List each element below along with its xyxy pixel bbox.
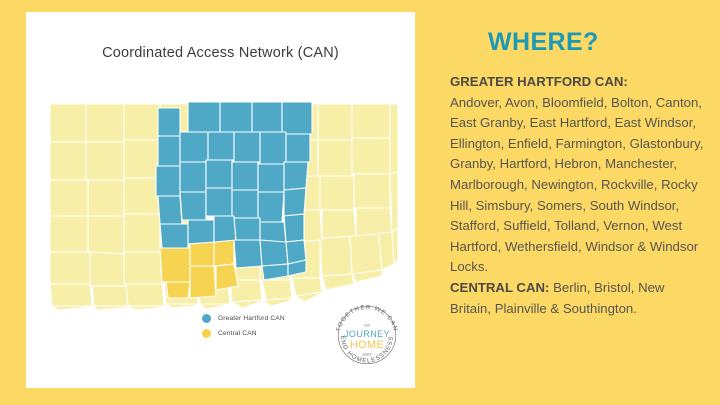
can-body: GREATER HARTFORD CAN: Andover, Avon, Blo…	[450, 72, 706, 319]
logo-word-home: HOME	[350, 339, 384, 351]
greater-hartford-label: GREATER HARTFORD CAN:	[450, 74, 628, 89]
central-paragraph: CENTRAL CAN: Berlin, Bristol, New Britai…	[450, 278, 706, 319]
legend-swatch-blue-icon	[202, 314, 211, 323]
legend-label-central: Central CAN	[218, 330, 257, 337]
slide-root: Coordinated Access Network (CAN)	[0, 0, 720, 405]
map-title: Coordinated Access Network (CAN)	[26, 45, 415, 61]
logo-word-journey: JOURNEY	[344, 329, 390, 339]
logo-est-label: est	[364, 322, 371, 327]
legend-label-greater-hartford: Greater Hartford CAN	[218, 315, 285, 322]
journey-home-logo: TOGETHER WE CAN END HOMELESSNESS est JOU…	[331, 299, 403, 371]
logo-est-year: 2007	[362, 352, 372, 357]
central-label: CENTRAL CAN:	[450, 280, 549, 295]
svg-text:TOGETHER WE CAN: TOGETHER WE CAN	[336, 305, 398, 332]
content-panel: WHERE? GREATER HARTFORD CAN: Andover, Av…	[450, 0, 706, 405]
map-legend: Greater Hartford CAN Central CAN	[202, 314, 342, 344]
greater-hartford-paragraph: GREATER HARTFORD CAN: Andover, Avon, Blo…	[450, 72, 706, 278]
legend-swatch-gold-icon	[202, 329, 211, 338]
legend-item-central: Central CAN	[202, 329, 342, 338]
map-card: Coordinated Access Network (CAN)	[26, 12, 415, 388]
legend-item-greater-hartford: Greater Hartford CAN	[202, 314, 342, 323]
connecticut-town-map	[38, 84, 404, 314]
logo-arc-top-text: TOGETHER WE CAN	[336, 305, 398, 332]
where-heading: WHERE?	[488, 28, 599, 57]
greater-hartford-towns: Andover, Avon, Bloomfield, Bolton, Canto…	[450, 95, 703, 275]
